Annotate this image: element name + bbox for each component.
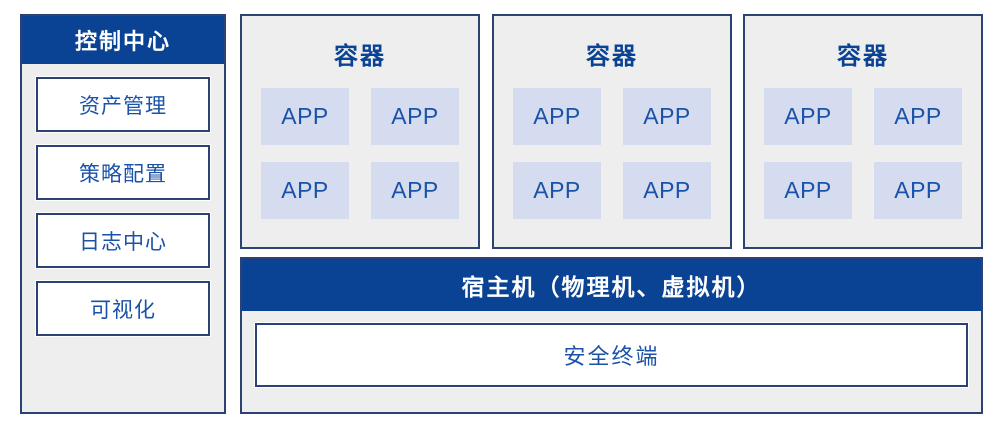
app-box[interactable]: APP	[623, 88, 711, 145]
sidebar-item-label: 策略配置	[79, 158, 167, 188]
app-box[interactable]: APP	[371, 162, 459, 219]
app-box[interactable]: APP	[623, 162, 711, 219]
host-title: 宿主机（物理机、虚拟机）	[242, 259, 981, 311]
app-box[interactable]: APP	[261, 88, 349, 145]
app-label: APP	[784, 103, 832, 130]
app-box[interactable]: APP	[764, 88, 852, 145]
app-box[interactable]: APP	[513, 162, 601, 219]
control-center-panel: 控制中心 资产管理 策略配置 日志中心 可视化	[20, 14, 226, 414]
app-label: APP	[533, 177, 581, 204]
app-box[interactable]: APP	[261, 162, 349, 219]
app-label: APP	[391, 103, 439, 130]
container-title: 容器	[494, 36, 730, 71]
sidebar-item-asset-management[interactable]: 资产管理	[36, 77, 210, 132]
app-box[interactable]: APP	[371, 88, 459, 145]
sidebar-item-label: 资产管理	[79, 90, 167, 120]
app-label: APP	[643, 177, 691, 204]
app-grid: APP APP APP APP	[242, 88, 478, 219]
secure-terminal-wrapper: 安全终端	[242, 311, 981, 400]
app-label: APP	[894, 177, 942, 204]
app-label: APP	[643, 103, 691, 130]
control-center-item-list: 资产管理 策略配置 日志中心 可视化	[22, 64, 224, 349]
sidebar-item-label: 可视化	[90, 294, 156, 324]
app-box[interactable]: APP	[513, 88, 601, 145]
container-panel: 容器 APP APP APP APP	[240, 14, 480, 249]
app-label: APP	[784, 177, 832, 204]
app-grid: APP APP APP APP	[494, 88, 730, 219]
sidebar-item-log-center[interactable]: 日志中心	[36, 213, 210, 268]
architecture-diagram: 控制中心 资产管理 策略配置 日志中心 可视化 容器 APP APP	[0, 0, 1001, 437]
app-box[interactable]: APP	[874, 88, 962, 145]
secure-terminal-box[interactable]: 安全终端	[255, 323, 968, 387]
app-grid: APP APP APP APP	[745, 88, 981, 219]
secure-terminal-label: 安全终端	[563, 339, 659, 371]
app-box[interactable]: APP	[764, 162, 852, 219]
sidebar-item-label: 日志中心	[79, 226, 167, 256]
app-label: APP	[281, 177, 329, 204]
app-label: APP	[281, 103, 329, 130]
container-title: 容器	[745, 36, 981, 71]
app-label: APP	[391, 177, 439, 204]
sidebar-item-visualization[interactable]: 可视化	[36, 281, 210, 336]
container-title: 容器	[242, 36, 478, 71]
app-label: APP	[533, 103, 581, 130]
app-label: APP	[894, 103, 942, 130]
app-box[interactable]: APP	[874, 162, 962, 219]
container-panel: 容器 APP APP APP APP	[492, 14, 732, 249]
host-panel: 宿主机（物理机、虚拟机） 安全终端	[240, 257, 983, 414]
container-panel: 容器 APP APP APP APP	[743, 14, 983, 249]
control-center-title: 控制中心	[22, 16, 224, 64]
sidebar-item-policy-config[interactable]: 策略配置	[36, 145, 210, 200]
